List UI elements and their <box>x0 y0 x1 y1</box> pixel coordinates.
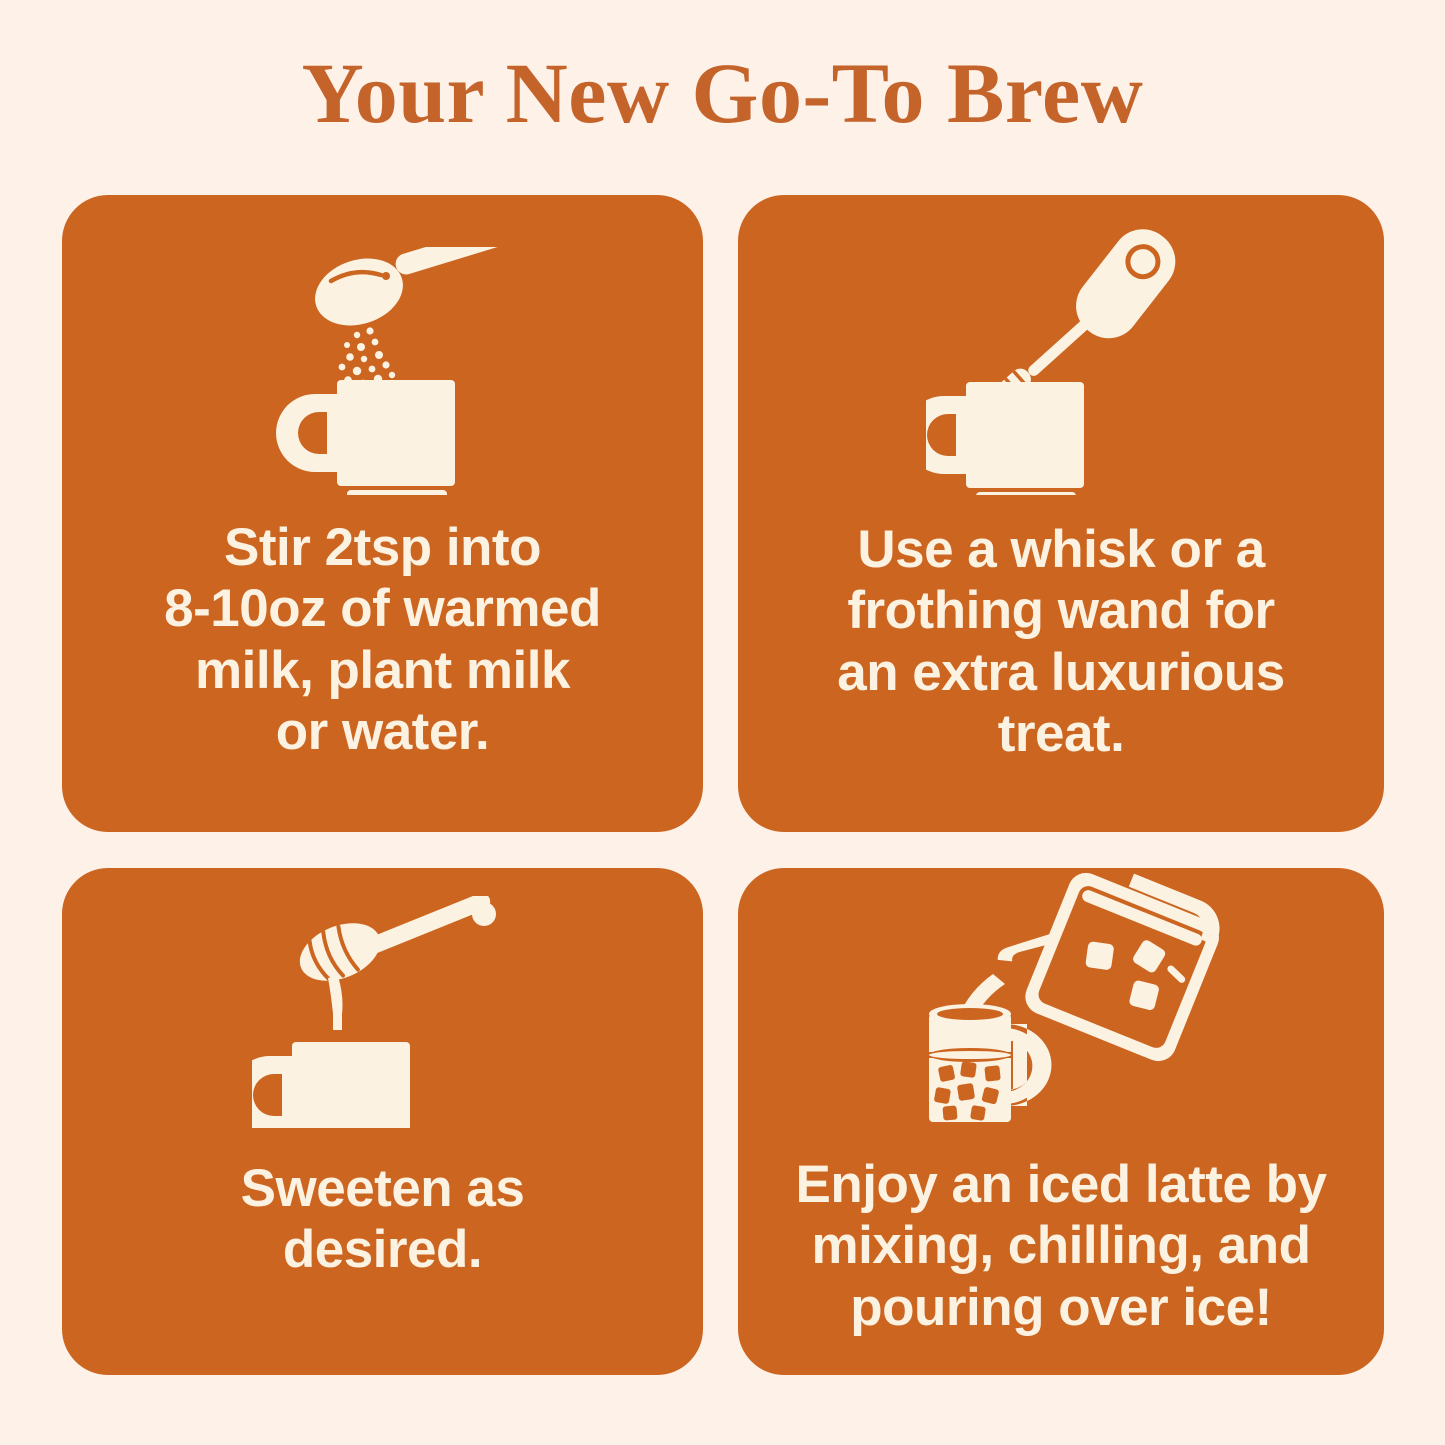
step-card-iced-latte[interactable]: Enjoy an iced latte by mixing, chilling,… <box>738 868 1384 1375</box>
honey-dipper-over-mug-icon <box>252 896 514 1128</box>
spoon-pouring-powder-into-mug-icon <box>253 247 513 495</box>
icon-container <box>62 195 703 495</box>
step-card-whisk[interactable]: Use a whisk or a frothing wand for an ex… <box>738 195 1384 832</box>
step-card-text: Stir 2tsp into 8-10oz of warmed milk, pl… <box>62 517 703 763</box>
step-card-text: Use a whisk or a frothing wand for an ex… <box>738 519 1384 765</box>
icon-container <box>62 868 703 1128</box>
frothing-wand-in-mug-icon <box>926 220 1196 495</box>
icon-container <box>738 868 1384 1136</box>
step-card-sweeten[interactable]: Sweeten as desired. <box>62 868 703 1375</box>
pitcher-pouring-into-iced-mug-icon <box>901 868 1221 1136</box>
steps-grid: Stir 2tsp into 8-10oz of warmed milk, pl… <box>62 195 1384 1375</box>
icon-container <box>738 195 1384 495</box>
step-card-text: Sweeten as desired. <box>62 1158 703 1281</box>
page-title: Your New Go-To Brew <box>0 48 1445 138</box>
step-card-text: Enjoy an iced latte by mixing, chilling,… <box>738 1154 1384 1338</box>
instructions-infographic: Your New Go-To Brew <box>0 0 1445 1445</box>
step-card-stir[interactable]: Stir 2tsp into 8-10oz of warmed milk, pl… <box>62 195 703 832</box>
